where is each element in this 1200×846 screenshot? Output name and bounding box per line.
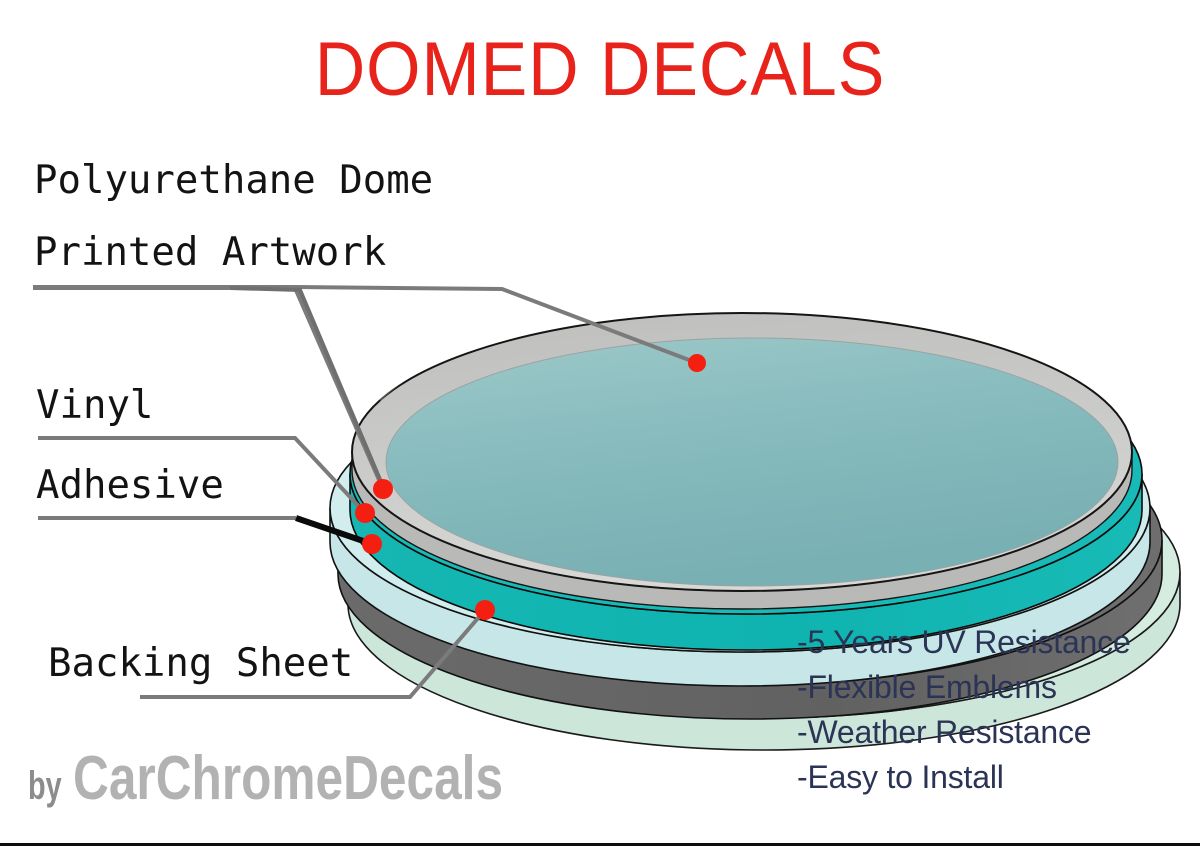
callout-label-printed-artwork: Printed Artwork [34, 230, 386, 275]
feature-list: -5 Years UV Resistance -Flexible Emblems… [797, 620, 1187, 800]
callout-dot-artwork [373, 479, 393, 499]
poster-canvas: DOMED DECALS Polyurethane Dome Printed A… [0, 0, 1200, 846]
feature-item: -5 Years UV Resistance [797, 620, 1187, 665]
callout-dot-adhesive [362, 534, 382, 554]
callout-label-vinyl: Vinyl [36, 383, 153, 428]
callout-label-polyurethane-dome: Polyurethane Dome [34, 158, 433, 203]
brand-prefix: by [28, 766, 62, 806]
feature-item: -Easy to Install [797, 755, 1187, 800]
brand-logo: by CarChromeDecals [28, 748, 611, 810]
callout-label-adhesive: Adhesive [36, 463, 224, 508]
callout-dot-dome [688, 354, 706, 372]
callout-dot-vinyl [355, 503, 375, 523]
brand-name: CarChromeDecals [73, 748, 503, 810]
callout-label-backing-sheet: Backing Sheet [48, 641, 353, 686]
feature-item: -Flexible Emblems [797, 665, 1187, 710]
feature-item: -Weather Resistance [797, 710, 1187, 755]
callout-dot-backing [475, 600, 495, 620]
layer-polyurethane-dome [352, 305, 1132, 609]
page-title: DOMED DECALS [48, 26, 1152, 113]
